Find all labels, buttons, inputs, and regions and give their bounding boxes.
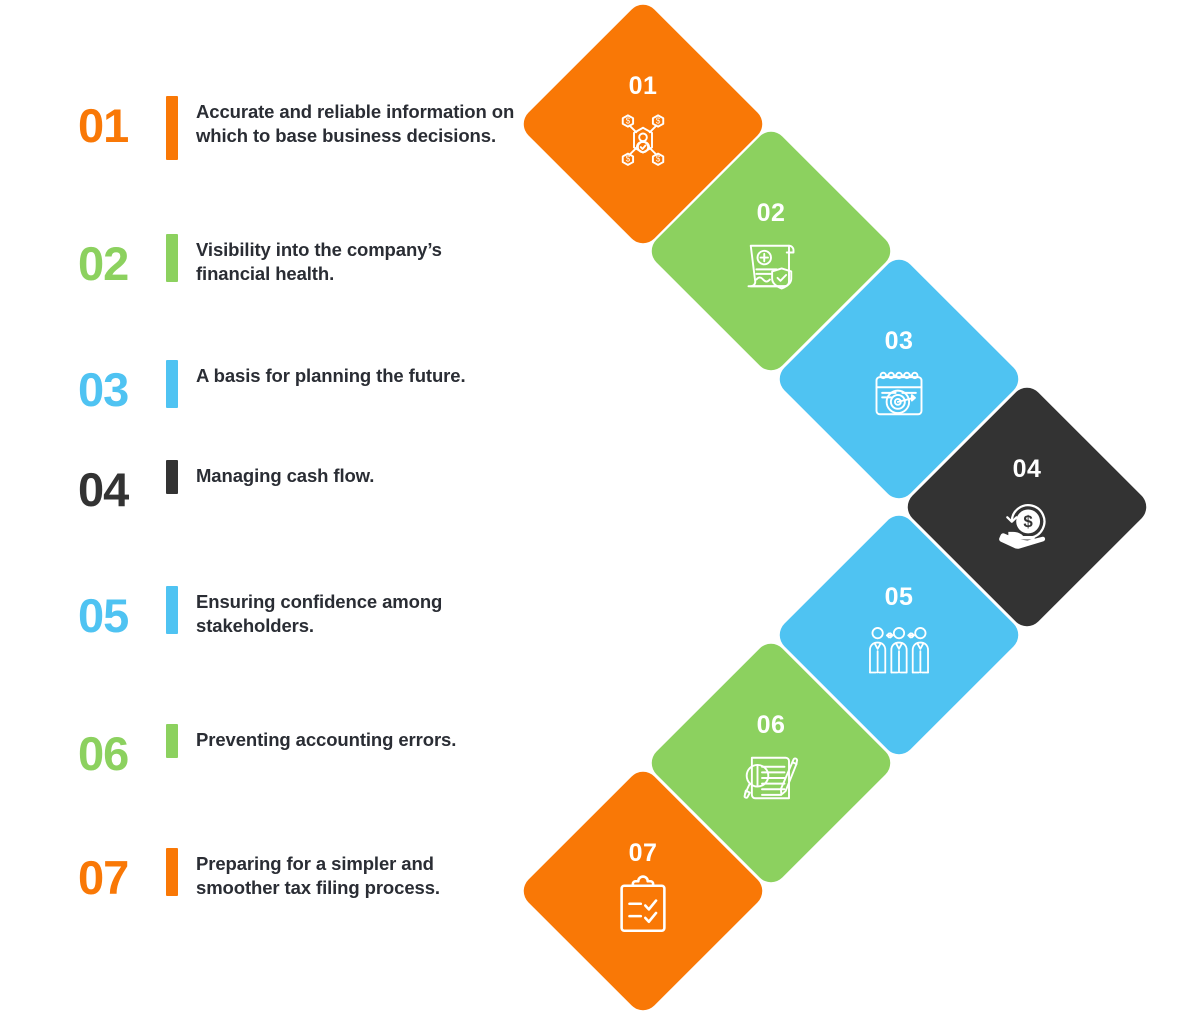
diamond-number: 04	[1013, 457, 1042, 482]
list-item-text: Visibility into the company’s financial …	[196, 234, 518, 285]
list-item: 02 Visibility into the company’s financi…	[78, 234, 518, 287]
list-item: 06 Preventing accounting errors.	[78, 724, 518, 777]
list-item-text: A basis for planning the future.	[196, 360, 518, 388]
list-item-accent-bar	[166, 360, 178, 408]
list-item: 05 Ensuring confidence among stakeholder…	[78, 586, 518, 639]
svg-text:$: $	[626, 154, 631, 163]
infographic-page: 01 Accurate and reliable information on …	[0, 0, 1200, 1025]
list-item-accent-bar	[166, 234, 178, 282]
list-item: 03 A basis for planning the future.	[78, 360, 518, 413]
money-network-user-icon: $ $ $ $	[607, 103, 679, 175]
diamond-number: 02	[757, 201, 786, 226]
list-item-number: 06	[78, 724, 166, 777]
list-item-number: 01	[78, 96, 166, 149]
list-item-number: 04	[78, 460, 166, 513]
svg-text:$: $	[1023, 511, 1033, 530]
diamond-step-07: 07	[517, 765, 769, 1017]
list-item-number: 02	[78, 234, 166, 287]
diamond-chain: 01 $ $ $	[520, 0, 1200, 1025]
list-item: 01 Accurate and reliable information on …	[78, 96, 518, 160]
diamond-number: 06	[757, 713, 786, 738]
list-item-text: Ensuring confidence among stakeholders.	[196, 586, 518, 637]
diamond-number: 03	[885, 329, 914, 354]
calendar-target-icon	[863, 358, 935, 430]
list-item-accent-bar	[166, 460, 178, 494]
diamond-number: 07	[629, 841, 658, 866]
list-item-text: Preparing for a simpler and smoother tax…	[196, 848, 518, 899]
list-item-text: Accurate and reliable information on whi…	[196, 96, 518, 147]
diamond-number: 05	[885, 585, 914, 610]
svg-text:$: $	[626, 116, 631, 125]
svg-text:$: $	[656, 154, 661, 163]
svg-text:$: $	[656, 116, 661, 125]
list-item-number: 05	[78, 586, 166, 639]
list-item: 07 Preparing for a simpler and smoother …	[78, 848, 518, 901]
document-magnifier-pencil-icon	[735, 742, 807, 814]
hand-holding-dollar-icon: $	[991, 486, 1063, 558]
list-item-accent-bar	[166, 96, 178, 160]
list-item-accent-bar	[166, 586, 178, 634]
clipboard-checklist-icon	[607, 870, 679, 942]
benefits-list: 01 Accurate and reliable information on …	[0, 0, 540, 1025]
list-item: 04 Managing cash flow.	[78, 460, 518, 513]
diamond-number: 01	[629, 74, 658, 99]
list-item-number: 07	[78, 848, 166, 901]
list-item-text: Managing cash flow.	[196, 460, 518, 488]
list-item-text: Preventing accounting errors.	[196, 724, 518, 752]
three-businesspeople-icon	[863, 614, 935, 686]
certificate-shield-icon	[735, 230, 807, 302]
list-item-number: 03	[78, 360, 166, 413]
list-item-accent-bar	[166, 848, 178, 896]
list-item-accent-bar	[166, 724, 178, 758]
